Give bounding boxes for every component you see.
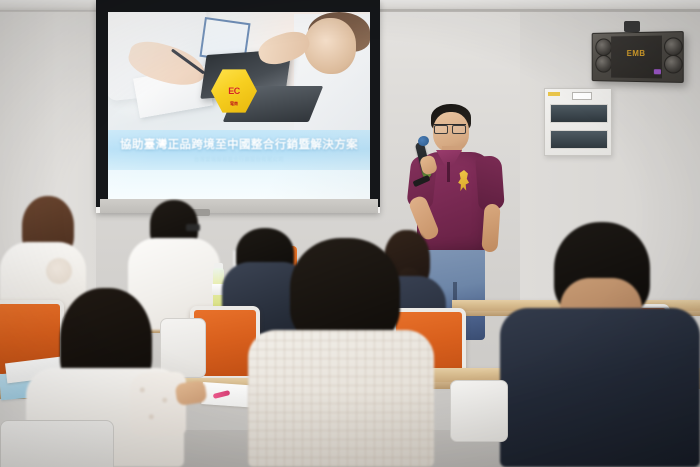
presenter-glasses xyxy=(434,124,466,132)
audience-glasses xyxy=(186,224,200,231)
breaker-panel[interactable] xyxy=(544,88,612,156)
panel-warning-sticker xyxy=(548,92,560,96)
audience-torso xyxy=(500,308,700,467)
chair-front-left-frame[interactable] xyxy=(0,420,114,467)
slide-title-text: 協助臺灣正品跨境至中國整合行銷暨解決方案 xyxy=(108,136,370,152)
projection-screen-surface: EC 電商 協助臺灣正品跨境至中國整合行銷暨解決方案 台灣雲端服務整合行銷股份有… xyxy=(108,12,370,199)
ec-logo-text: EC xyxy=(228,86,240,96)
speaker-led-indicator xyxy=(654,69,661,74)
panel-id-tag xyxy=(572,92,592,100)
chair-frame-mid[interactable] xyxy=(160,318,206,378)
screen-bottom-bar xyxy=(100,199,378,213)
panel-breaker-row-2 xyxy=(550,130,608,149)
wall-speaker: EMB xyxy=(592,31,684,83)
presenter-placket xyxy=(447,162,450,182)
slide-subtitle-text: 台灣雲端服務整合行銷股份有限公司 xyxy=(108,156,370,163)
panel-breaker-row-1 xyxy=(550,104,608,123)
speaker-brand-label: EMB xyxy=(593,49,683,58)
presenter-right-arm xyxy=(481,204,500,253)
audience-torso xyxy=(248,330,434,467)
slide-footer-area xyxy=(108,170,370,199)
speaker-bracket xyxy=(624,21,640,32)
slide-person-right-head xyxy=(304,18,356,74)
classroom-photo: EC 電商 協助臺灣正品跨境至中國整合行銷暨解決方案 台灣雲端服務整合行銷股份有… xyxy=(0,0,700,467)
presenter-right-sleeve xyxy=(475,155,505,211)
audience-lace-sleeve xyxy=(130,372,186,436)
audience-shoulder-lace xyxy=(46,258,72,284)
chair-front-right-frame[interactable] xyxy=(450,380,508,442)
